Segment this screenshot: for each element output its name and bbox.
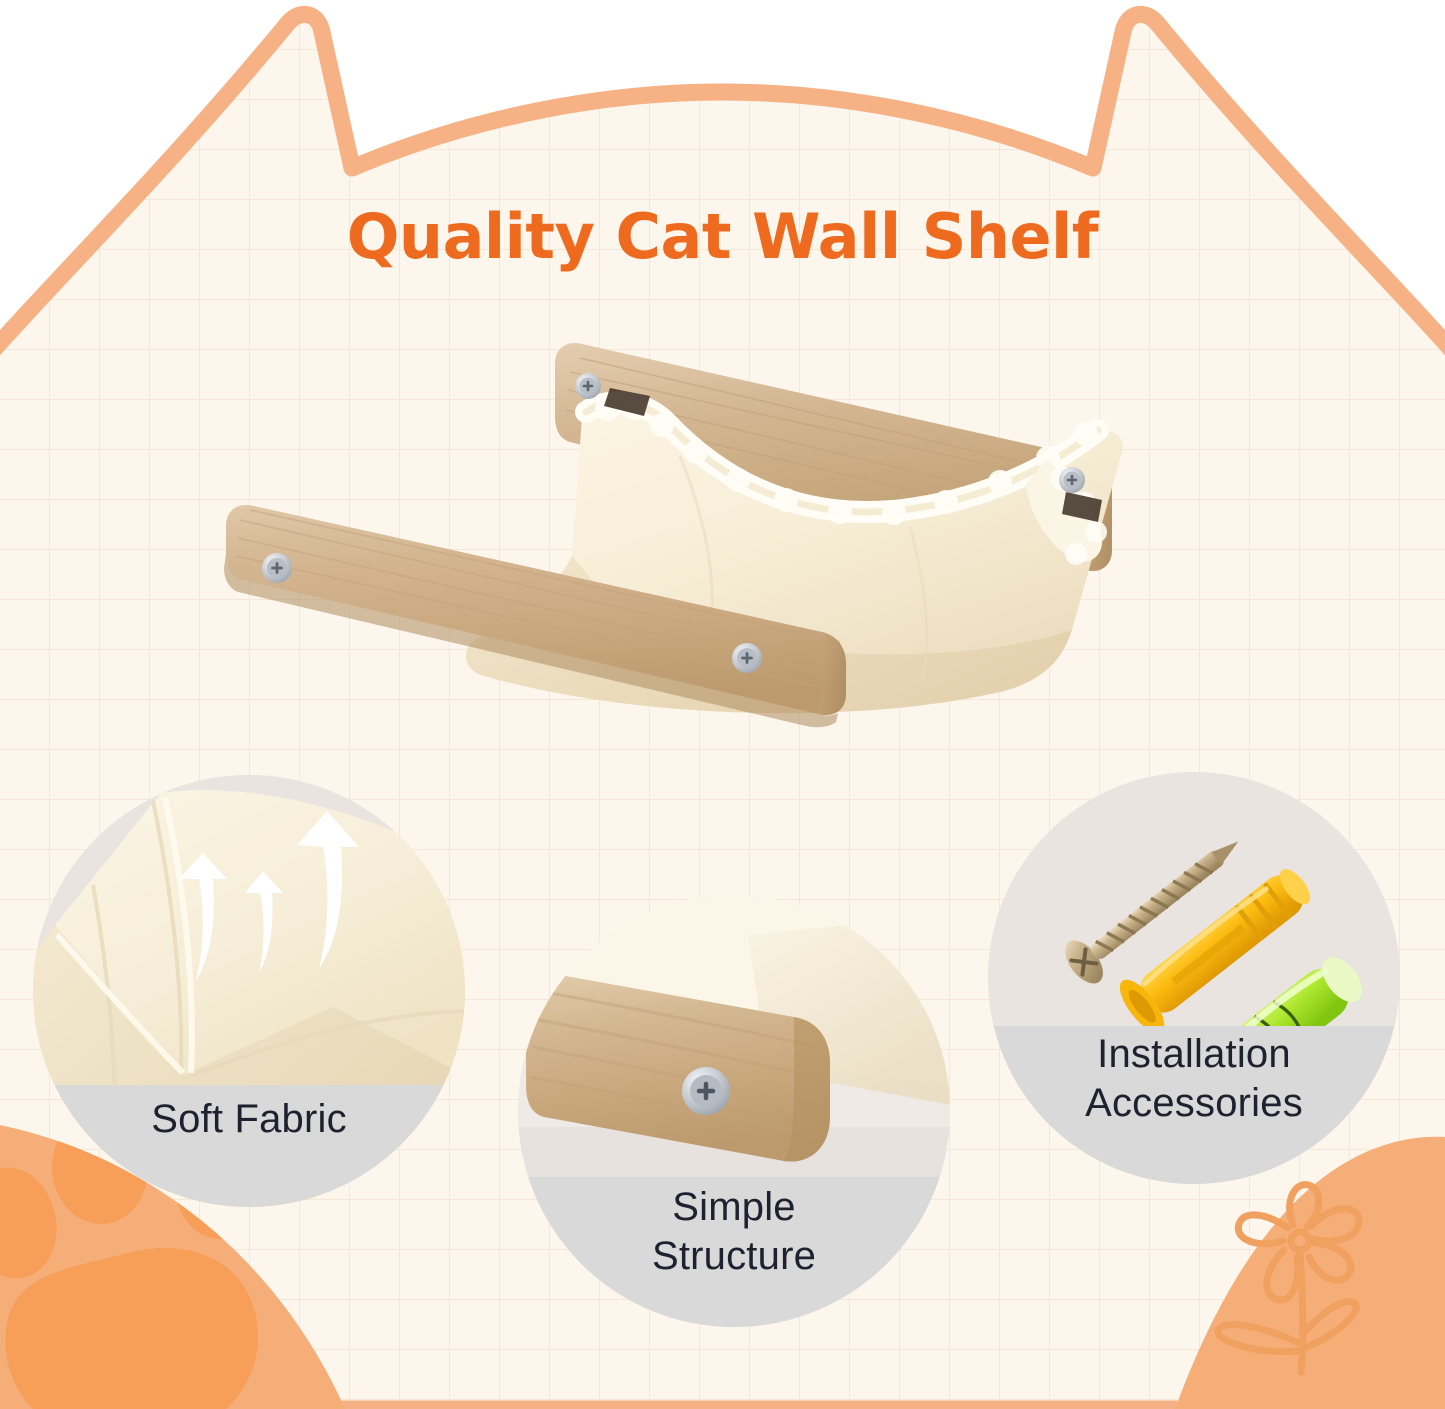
mounting-screw	[682, 1067, 730, 1115]
page-title: Quality Cat Wall Shelf	[0, 200, 1445, 273]
feature-label-band: Simple Structure	[518, 1177, 950, 1327]
feature-label-line-1: Simple	[672, 1183, 795, 1232]
feature-label-line-2: Structure	[652, 1232, 816, 1281]
infographic-canvas: Quality Cat Wall Shelf	[0, 0, 1445, 1409]
feature-label-band: Soft Fabric	[33, 1085, 465, 1207]
feature-card-installation-accessories[interactable]: Installation Accessories	[988, 772, 1400, 1184]
mounting-screw	[575, 373, 601, 399]
mounting-screw	[732, 643, 762, 673]
feature-label-line-1: Installation	[1097, 1030, 1291, 1079]
mounting-screw	[262, 553, 292, 583]
feature-label-line-1: Soft Fabric	[151, 1095, 347, 1144]
mounting-screw	[1059, 467, 1085, 493]
hero-product-image	[210, 330, 1220, 750]
feature-card-soft-fabric[interactable]: Soft Fabric	[33, 775, 465, 1207]
feature-card-simple-structure[interactable]: Simple Structure	[518, 895, 950, 1327]
feature-label-band: Installation Accessories	[988, 1026, 1400, 1184]
feature-label-line-2: Accessories	[1085, 1079, 1303, 1128]
